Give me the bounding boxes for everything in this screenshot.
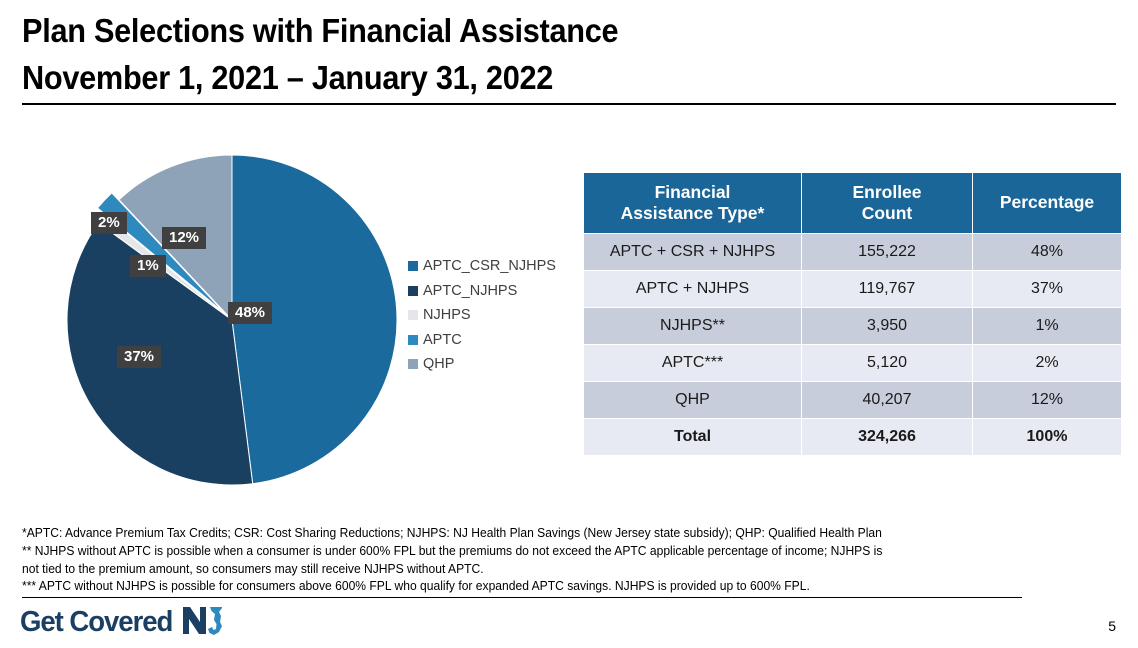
cell-type: APTC + CSR + NJHPS [584,234,801,270]
cell-type: NJHPS** [584,308,801,344]
table-row-total: Total324,266100% [584,419,1121,455]
column-header-type-line2: Assistance Type* [621,203,765,223]
legend-item-aptc_csr_njhps[interactable]: APTC_CSR_NJHPS [408,254,556,279]
logo-wordmark: Get Covered [20,606,172,639]
column-header-count: Enrollee Count [802,173,972,233]
legend-swatch-icon [408,261,418,271]
chart-legend: APTC_CSR_NJHPSAPTC_NJHPSNJHPSAPTCQHP [408,254,556,377]
cell-count: 3,950 [802,308,972,344]
table-row: QHP40,20712% [584,382,1121,418]
cell-count: 324,266 [802,419,972,455]
column-header-count-line1: Enrollee [852,182,921,202]
cell-percentage: 48% [973,234,1121,270]
cell-type: APTC*** [584,345,801,381]
legend-item-label: QHP [423,356,454,372]
legend-item-label: APTC_CSR_NJHPS [423,258,556,274]
title-line-1: Plan Selections with Financial Assistanc… [22,8,1039,55]
nj-state-icon [181,603,225,642]
enrollment-table: Financial Assistance Type* Enrollee Coun… [583,172,1118,456]
table-header-row: Financial Assistance Type* Enrollee Coun… [584,173,1121,233]
legend-swatch-icon [408,286,418,296]
footnote-divider [22,597,1022,598]
footnote-1: *APTC: Advance Premium Tax Credits; CSR:… [22,525,1078,543]
cell-type: APTC + NJHPS [584,271,801,307]
cell-count: 5,120 [802,345,972,381]
legend-item-aptc_njhps[interactable]: APTC_NJHPS [408,279,556,304]
title-divider [22,103,1116,105]
pie-label-aptc-njhps: 37% [117,346,161,368]
legend-swatch-icon [408,335,418,345]
footnote-2-cont: not tied to the premium amount, so consu… [22,561,1078,579]
page-number: 5 [1108,618,1116,634]
legend-item-label: NJHPS [423,307,471,323]
legend-swatch-icon [408,359,418,369]
pie-chart: 48% 37% 1% 2% 12% APTC_CSR_NJHPSAPTC_NJH… [52,150,572,495]
cell-percentage: 2% [973,345,1121,381]
page-title: Plan Selections with Financial Assistanc… [22,8,1116,101]
legend-item-njhps[interactable]: NJHPS [408,303,556,328]
title-line-2: November 1, 2021 – January 31, 2022 [22,55,1039,102]
cell-percentage: 100% [973,419,1121,455]
legend-item-aptc[interactable]: APTC [408,328,556,353]
cell-count: 155,222 [802,234,972,270]
column-header-type-line1: Financial [655,182,731,202]
column-header-type: Financial Assistance Type* [584,173,801,233]
table-row: APTC + CSR + NJHPS155,22248% [584,234,1121,270]
legend-item-qhp[interactable]: QHP [408,352,556,377]
table-row: NJHPS**3,9501% [584,308,1121,344]
slide: Plan Selections with Financial Assistanc… [0,0,1138,648]
table-row: APTC + NJHPS119,76737% [584,271,1121,307]
cell-percentage: 12% [973,382,1121,418]
pie-label-qhp: 12% [162,227,206,249]
cell-type: Total [584,419,801,455]
column-header-percentage: Percentage [973,173,1121,233]
pie-label-aptc-csr-njhps: 48% [228,302,272,324]
legend-swatch-icon [408,310,418,320]
cell-count: 40,207 [802,382,972,418]
footnotes: *APTC: Advance Premium Tax Credits; CSR:… [22,525,1122,596]
pie-label-aptc: 2% [91,212,127,234]
footnote-3: *** APTC without NJHPS is possible for c… [22,578,1078,596]
legend-item-label: APTC [423,332,462,348]
cell-percentage: 1% [973,308,1121,344]
cell-count: 119,767 [802,271,972,307]
pie-label-njhps: 1% [130,255,166,277]
table-row: APTC***5,1202% [584,345,1121,381]
legend-item-label: APTC_NJHPS [423,283,517,299]
cell-percentage: 37% [973,271,1121,307]
footnote-2: ** NJHPS without APTC is possible when a… [22,543,1078,561]
cell-type: QHP [584,382,801,418]
get-covered-nj-logo: Get Covered [20,602,225,642]
column-header-count-line2: Count [862,203,913,223]
